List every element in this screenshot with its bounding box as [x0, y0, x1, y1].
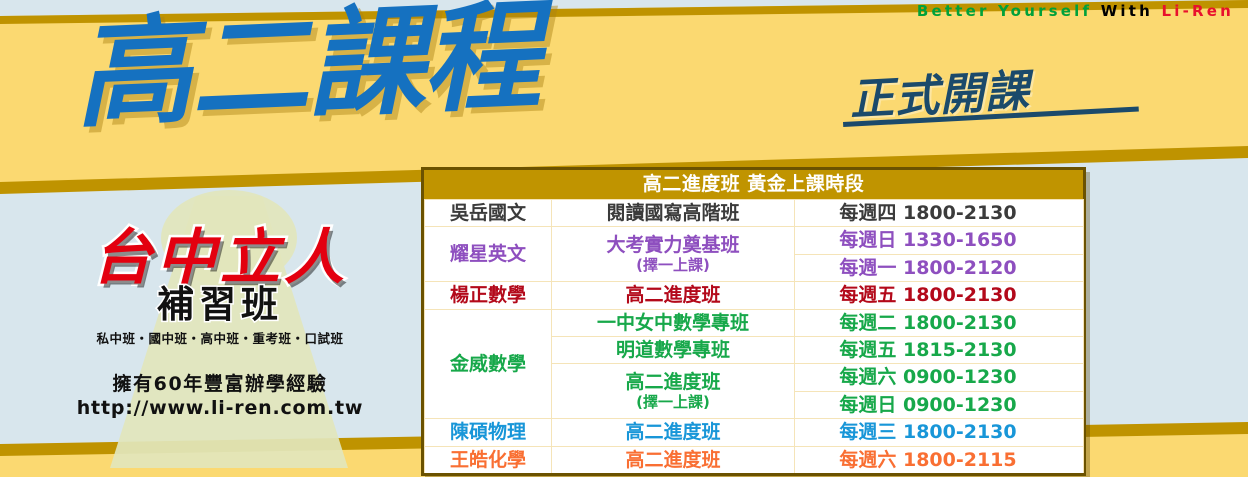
cell-teacher: 吳岳國文 [425, 200, 552, 227]
table-row: 耀星英文大考實力奠基班(擇一上課)每週日 1330-1650 [425, 227, 1084, 254]
schedule-table-header: 高二進度班 黃金上課時段 [424, 170, 1083, 199]
cell-time: 每週日 0900-1230 [795, 391, 1084, 418]
cell-teacher: 陳碩物理 [425, 419, 552, 446]
logo-class-list: 私中班・國中班・高中班・重考班・口試班 [40, 328, 400, 347]
logo-experience: 擁有60年豐富辦學經驗 [40, 369, 400, 396]
schedule-table-body: 吳岳國文閱讀國寫高階班每週四 1800-2130耀星英文大考實力奠基班(擇一上課… [425, 200, 1084, 474]
tagline-word-2: Yourself [998, 2, 1092, 20]
cell-time: 每週一 1800-2120 [795, 254, 1084, 281]
logo-website-url: http://www.li-ren.com.tw [40, 397, 400, 419]
cell-course: 明道數學專班 [552, 337, 795, 364]
tagline: Better Yourself With Li-Ren [917, 2, 1234, 20]
cell-time: 每週日 1330-1650 [795, 227, 1084, 254]
cell-time: 每週五 1800-2130 [795, 282, 1084, 309]
cell-course-note: (擇一上課) [556, 394, 790, 412]
cell-course: 高二進度班 [552, 282, 795, 309]
table-row: 王皓化學高二進度班每週六 1800-2115 [425, 446, 1084, 473]
cell-course: 高二進度班(擇一上課) [552, 364, 795, 419]
cell-course: 閱讀國寫高階班 [552, 200, 795, 227]
logo-name: 台中立人 [40, 228, 400, 288]
cell-teacher: 楊正數學 [425, 282, 552, 309]
brand-logo: 台中立人 補習班 私中班・國中班・高中班・重考班・口試班 擁有60年豐富辦學經驗… [40, 228, 400, 419]
table-row: 陳碩物理高二進度班每週三 1800-2130 [425, 419, 1084, 446]
cell-course: 大考實力奠基班(擇一上課) [552, 227, 795, 282]
table-row: 金威數學一中女中數學專班每週二 1800-2130 [425, 309, 1084, 336]
cell-course: 一中女中數學專班 [552, 309, 795, 336]
cell-course: 高二進度班 [552, 419, 795, 446]
cell-time: 每週三 1800-2130 [795, 419, 1084, 446]
cell-teacher: 耀星英文 [425, 227, 552, 282]
schedule-table: 吳岳國文閱讀國寫高階班每週四 1800-2130耀星英文大考實力奠基班(擇一上課… [424, 199, 1084, 473]
tagline-word-3: With [1101, 2, 1153, 20]
cell-teacher: 金威數學 [425, 309, 552, 419]
cell-time: 每週六 1800-2115 [795, 446, 1084, 473]
tagline-word-1: Better [917, 2, 990, 20]
schedule-table-container: 高二進度班 黃金上課時段 吳岳國文閱讀國寫高階班每週四 1800-2130耀星英… [421, 167, 1086, 476]
cell-teacher: 王皓化學 [425, 446, 552, 473]
cell-time: 每週六 0900-1230 [795, 364, 1084, 391]
cell-course-note: (擇一上課) [556, 257, 790, 275]
table-row: 楊正數學高二進度班每週五 1800-2130 [425, 282, 1084, 309]
promo-banner: Better Yourself With Li-Ren 高二課程 正式開課 台中… [0, 0, 1248, 477]
page-title: 高二課程 [72, 0, 541, 139]
cell-time: 每週五 1815-2130 [795, 337, 1084, 364]
cell-time: 每週二 1800-2130 [795, 309, 1084, 336]
table-row: 吳岳國文閱讀國寫高階班每週四 1800-2130 [425, 200, 1084, 227]
cell-course: 高二進度班 [552, 446, 795, 473]
cell-time: 每週四 1800-2130 [795, 200, 1084, 227]
tagline-word-4: Li-Ren [1161, 2, 1234, 20]
